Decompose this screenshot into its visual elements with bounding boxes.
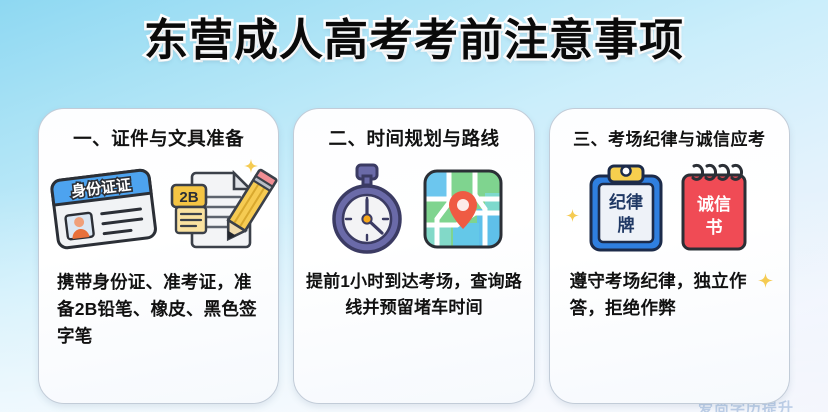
card-documents-title: 一、证件与文具准备	[39, 125, 278, 151]
id-card-icon: 身份证证	[47, 164, 160, 257]
pencil-grade-label: 2B	[179, 189, 198, 206]
map-pin-icon	[423, 169, 503, 254]
card-documents[interactable]: 一、证件与文具准备 身份证证	[38, 108, 279, 404]
card-documents-body: 携带身份证、准考证，准备2B铅笔、橡皮、黑色签字笔	[57, 269, 262, 350]
card-list: 一、证件与文具准备 身份证证	[38, 108, 790, 404]
card-time-title: 二、时间规划与路线	[294, 125, 533, 151]
card-discipline-title: 三、考场纪律与诚信应考	[550, 125, 789, 150]
clipboard-label-line2: 牌	[618, 215, 635, 235]
title-container: 东营成人高考考前注意事项	[0, 18, 828, 64]
card-time-icons	[294, 157, 533, 265]
page-title: 东营成人高考考前注意事项	[144, 18, 684, 64]
card-discipline-icons: 纪律 牌 诚信 书	[550, 156, 789, 264]
notepad-label-line1: 诚信	[697, 194, 731, 214]
poster-canvas: 东营成人高考考前注意事项 一、证件与文具准备	[0, 0, 828, 412]
clipboard-label-line1: 纪律	[609, 192, 643, 212]
card-discipline[interactable]: 三、考场纪律与诚信应考 纪律 牌	[549, 108, 790, 404]
notepad-label-line2: 书	[706, 218, 723, 237]
card-discipline-body: 遵守考场纪律，独立作答，拒绝作弊	[570, 268, 773, 322]
stopwatch-icon	[325, 163, 409, 260]
card-time-body: 提前1小时到达考场，查询路线并预留堵车时间	[302, 269, 525, 322]
card-documents-icons: 身份证证	[39, 157, 278, 265]
notepad-icon: 诚信 书	[678, 162, 750, 259]
pencil-paper-icon: 2B	[170, 165, 266, 258]
clipboard-icon: 纪律 牌	[588, 162, 664, 259]
card-time[interactable]: 二、时间规划与路线	[293, 108, 534, 404]
